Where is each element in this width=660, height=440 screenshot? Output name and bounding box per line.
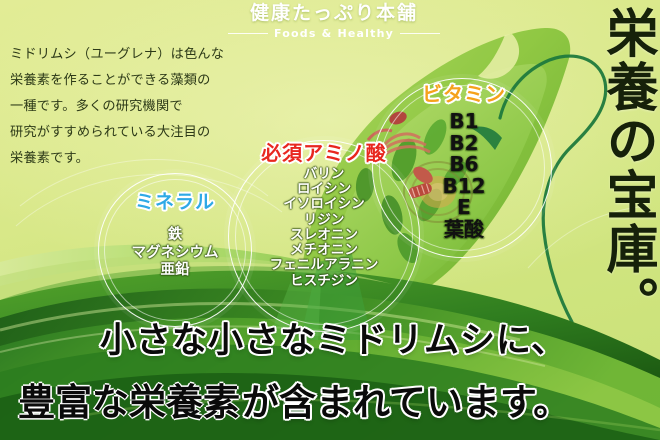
nutrient-group-vitamin: ビタミン B1 B2 B6 B12 E 葉酸 [380,83,548,241]
brand-name: 健康たっぷり本舗 [228,4,440,23]
vertical-headline: 栄養の宝庫。 [566,6,654,336]
intro-line-2: 栄養素を作ることができる藻類の [10,68,272,94]
rule-left [228,33,268,34]
list-item: ヒスチジン [230,274,418,289]
tagline-line-1: 小さな小さなミドリムシに、 [100,312,567,363]
tagline-line-2: 豊富な栄養素 が含まれています。 [16,372,570,426]
intro-line-3: 一種です。多くの研究機関で [10,94,272,120]
list-item: B6 [380,154,548,176]
brand-tagline-row: Foods & Healthy [228,28,440,39]
group-title-vitamin: ビタミン [380,83,548,105]
list-item: 葉酸 [380,219,548,241]
list-item: フェニルアラニン [230,258,418,273]
list-item: B1 [380,111,548,133]
list-item: B12 [380,176,548,198]
tagline-rest: が含まれています。 [242,372,570,426]
group-items-vitamin: B1 B2 B6 B12 E 葉酸 [380,111,548,241]
brand-tagline: Foods & Healthy [274,28,394,39]
rule-right [400,33,440,34]
tagline-highlight: 豊富な栄養素 [16,372,242,426]
list-item: E [380,197,548,219]
intro-line-1: ミドリムシ（ユーグレナ）は色んな [10,42,272,68]
brand-logo: 健康たっぷり本舗 Foods & Healthy [228,4,440,39]
list-item: B2 [380,133,548,155]
infographic-canvas: 健康たっぷり本舗 Foods & Healthy ミドリムシ（ユーグレナ）は色ん… [0,0,660,440]
